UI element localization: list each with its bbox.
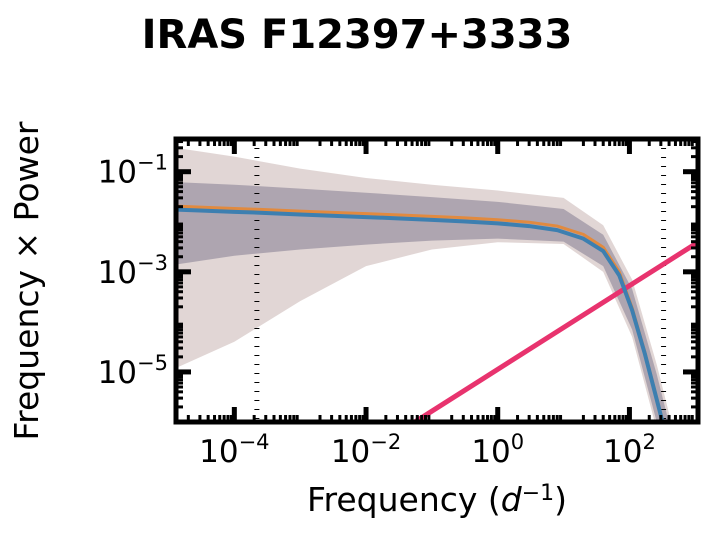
x-tick-label: 10−4 — [199, 430, 269, 470]
x-axis-label: Frequency (d−1) — [307, 480, 567, 519]
svg-text:Frequency (d−1): Frequency (d−1) — [307, 480, 567, 519]
svg-text:Frequency × Power: Frequency × Power — [7, 121, 46, 440]
y-tick-label: 10−1 — [98, 151, 168, 191]
x-tick-label: 10−2 — [331, 430, 401, 470]
chart-figure: IRAS F12397+3333 10−410−210010210−110−31… — [0, 0, 714, 553]
y-axis-label: Frequency × Power — [7, 121, 46, 440]
y-tick-label: 10−3 — [98, 251, 168, 291]
x-tick-label: 100 — [471, 430, 524, 470]
y-tick-label: 10−5 — [98, 351, 168, 391]
plot-canvas: 10−410−210010210−110−310−5 Frequency (d−… — [0, 0, 714, 553]
x-tick-label: 102 — [603, 430, 656, 470]
